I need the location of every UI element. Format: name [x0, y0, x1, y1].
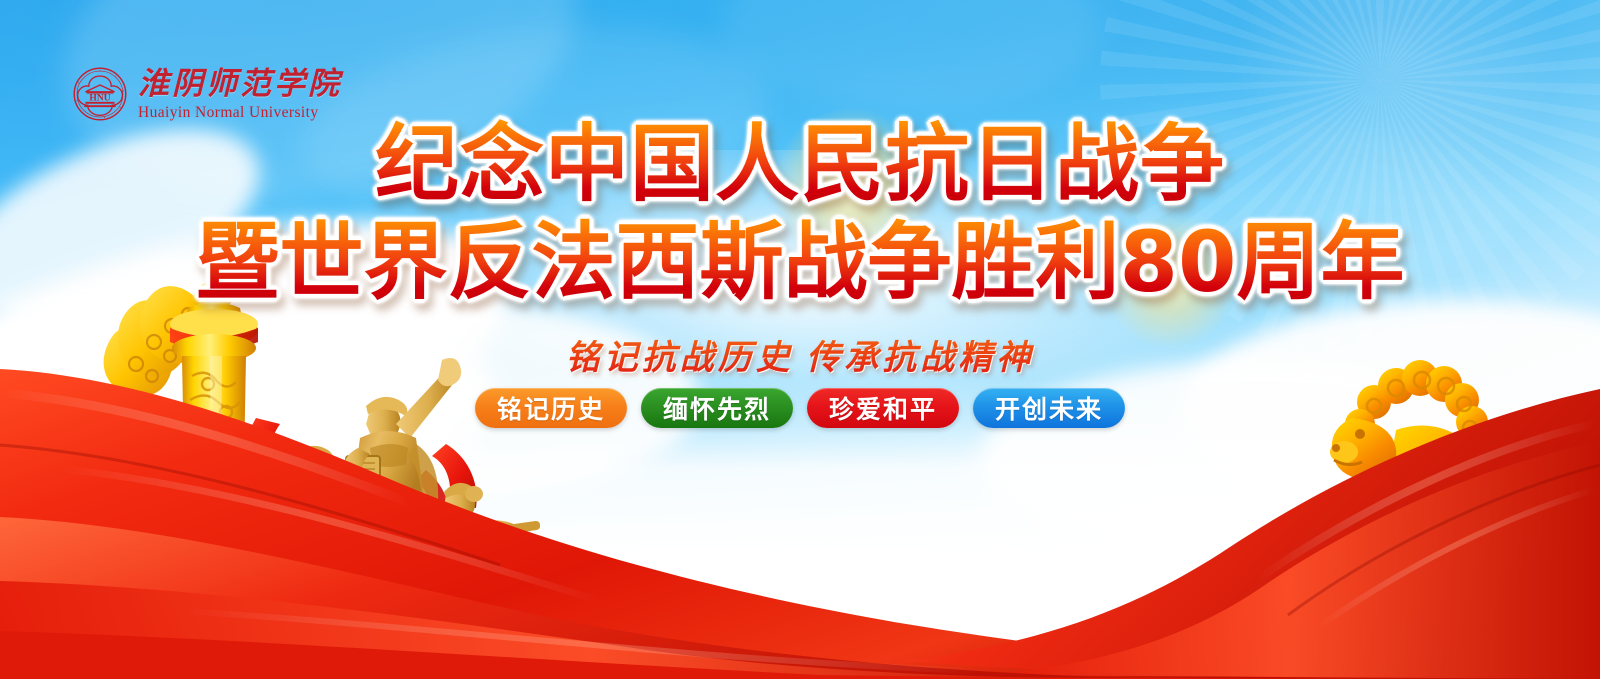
university-seal-icon: HNU: [72, 66, 128, 122]
commemoration-banner: HNU 淮阴师范学院 Huaiyin Normal University 纪念中…: [0, 0, 1600, 679]
university-name-en: Huaiyin Normal University: [138, 105, 342, 121]
guardian-lion-statue: [1300, 352, 1560, 562]
seal-initials: HNU: [89, 94, 110, 104]
university-name-cn: 淮阴师范学院: [138, 68, 342, 99]
pill-honor-martyrs[interactable]: 缅怀先烈: [641, 388, 793, 428]
red-flag: [250, 418, 284, 502]
raised-hand: [438, 358, 461, 386]
slogan-pill-group: 铭记历史 缅怀先烈 珍爱和平 开创未来: [0, 388, 1600, 428]
pill-remember-history[interactable]: 铭记历史: [475, 388, 627, 428]
university-logo[interactable]: HNU 淮阴师范学院 Huaiyin Normal University: [72, 66, 342, 122]
pill-cherish-peace[interactable]: 珍爱和平: [807, 388, 959, 428]
pill-create-future[interactable]: 开创未来: [973, 388, 1125, 428]
university-name-block: 淮阴师范学院 Huaiyin Normal University: [138, 68, 342, 121]
